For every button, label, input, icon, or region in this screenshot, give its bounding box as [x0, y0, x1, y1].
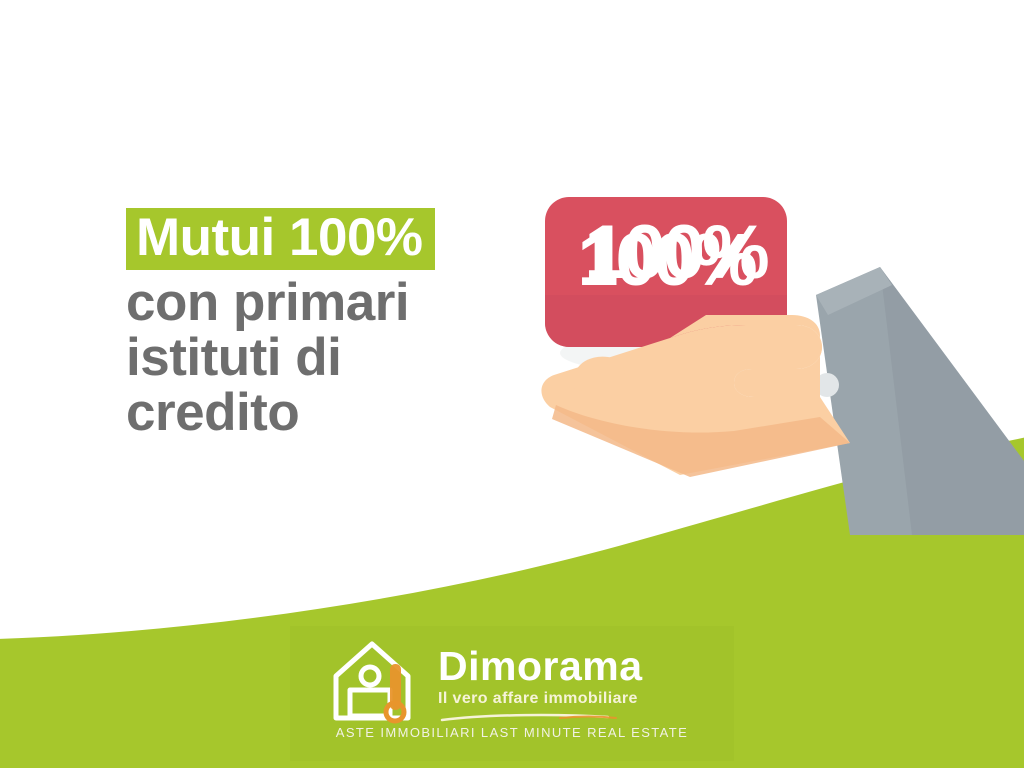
swoosh-underline-svg [440, 713, 620, 723]
brand-logo-block[interactable]: Dimorama Il vero affare immobiliare ASTE… [290, 626, 734, 761]
swoosh-underline-icon [440, 710, 620, 720]
logo-row: Dimorama Il vero affare immobiliare [290, 632, 734, 722]
illustration-svg: 100% [520, 175, 1024, 535]
logo-caption: ASTE IMMOBILIARI LAST MINUTE REAL ESTATE [290, 725, 734, 741]
keyhole-circle [361, 667, 379, 685]
headline-line-1: con primari [126, 275, 526, 330]
headline-line-2: istituti di [126, 330, 526, 385]
headline-line-3: credito [126, 385, 526, 440]
house-key-icon [326, 636, 430, 726]
swoosh-accent-stroke [560, 717, 616, 719]
logo-wordmark: Dimorama Il vero affare immobiliare [438, 646, 728, 709]
house-key-icon-svg [326, 636, 430, 726]
logo-name: Dimorama [438, 646, 728, 687]
headline-block: Mutui 100% con primari istituti di credi… [126, 208, 526, 440]
card-percentage-text: 100% [577, 218, 755, 301]
headline-highlight: Mutui 100% [126, 208, 435, 270]
logo-tagline: Il vero affare immobiliare [438, 689, 728, 709]
promo-banner: Mutui 100% con primari istituti di credi… [0, 0, 1024, 768]
hand-holding-card-illustration: 100% 100% [520, 175, 1024, 535]
